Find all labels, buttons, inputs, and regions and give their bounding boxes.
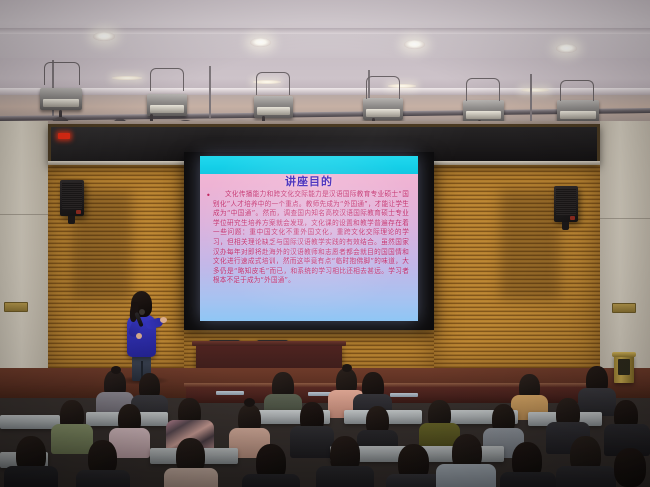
audience-hair-bun (111, 366, 121, 374)
wall-plaque (4, 302, 28, 312)
stage-spotlight (557, 100, 599, 122)
audience-head (614, 448, 646, 487)
wall-speaker-right (554, 186, 578, 222)
ceiling-middle (0, 58, 650, 92)
speaker-grill (556, 188, 576, 215)
bin-opening (618, 359, 630, 375)
stage-spotlight (463, 100, 504, 122)
audience-hair-bun (244, 398, 255, 407)
pillar-seam (600, 218, 650, 219)
par-yoke (366, 76, 400, 99)
red-led-indicator (58, 133, 70, 139)
truss-hanger (209, 66, 211, 118)
par-yoke (560, 80, 594, 101)
front-table-top-left (184, 383, 358, 387)
table-nameplate (390, 393, 418, 397)
wall-shadow (500, 190, 560, 300)
audience-hair-bun (342, 364, 352, 372)
speaker-mount (68, 216, 75, 224)
audience-torso (76, 470, 130, 487)
lecture-hall-photo: 讲座目的 • 文化传播能力和跨文化交际能力是汉语国际教育专业硕士“国别化”人才培… (0, 0, 650, 487)
slide-title: 讲座目的 (200, 173, 418, 189)
front-table-top-right (356, 383, 602, 387)
seat-row (0, 415, 60, 429)
wall-pillar-right (600, 121, 650, 387)
truss-hanger (530, 74, 532, 122)
ceiling-striplight (521, 88, 549, 92)
presentation-slide: 讲座目的 • 文化传播能力和跨文化交际能力是汉语国际教育专业硕士“国别化”人才培… (200, 156, 418, 321)
trash-bin (614, 355, 634, 383)
audience-torso (436, 464, 496, 487)
bin-lid (612, 352, 636, 357)
audience-torso (164, 468, 218, 487)
ceiling-downlight (250, 38, 271, 47)
audience-torso (51, 424, 93, 454)
stage-spotlight (40, 88, 82, 110)
audience-torso (556, 466, 616, 487)
wall-speaker-left (60, 180, 84, 216)
table-nameplate (216, 391, 244, 395)
audience-torso (242, 474, 300, 487)
speaker-mount (562, 222, 569, 230)
audience-torso (316, 466, 374, 487)
par-yoke (466, 78, 500, 101)
slide-bullet-marker: • (206, 191, 211, 200)
ceiling-downlight (556, 44, 577, 53)
stage-spotlight (363, 98, 403, 120)
presenter-right-hand (160, 317, 167, 323)
speaker-badge (570, 216, 575, 220)
ceiling-lip (0, 88, 650, 95)
speaker-grill (62, 182, 82, 209)
ceiling-striplight (112, 76, 142, 80)
ceiling-downlight (404, 40, 425, 49)
presenter-left-hand (136, 333, 142, 339)
ceiling-downlight (93, 32, 115, 41)
audience-torso (500, 472, 556, 487)
par-yoke (256, 72, 290, 95)
speaker-badge (76, 210, 81, 214)
audience-torso (4, 466, 58, 487)
microphone-head (139, 309, 145, 315)
wall-plaque (612, 303, 636, 313)
table-top-edge (192, 341, 346, 346)
audience-torso (386, 474, 442, 487)
par-yoke (44, 62, 80, 85)
stage-spotlight (254, 96, 293, 118)
slide-body-text: 文化传播能力和跨文化交际能力是汉语国际教育专业硕士“国别化”人才培养中的一个重点… (213, 190, 409, 286)
wall-pillar-left (0, 121, 48, 387)
audience-torso (290, 426, 334, 458)
slide-header-band (200, 156, 418, 174)
stage-spotlight (147, 94, 187, 116)
par-yoke (150, 68, 184, 91)
presenter-speaking (122, 291, 162, 381)
pillar-seam (0, 214, 48, 215)
